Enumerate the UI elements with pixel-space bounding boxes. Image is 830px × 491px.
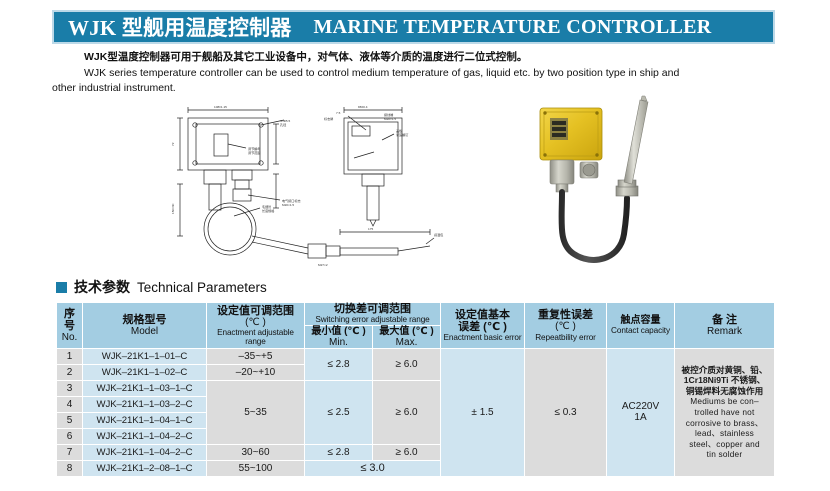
cell-no: 5 — [57, 412, 83, 428]
cell-no: 3 — [57, 380, 83, 396]
header-contact-cn: 触点容量 — [607, 315, 674, 326]
header-cell-basic-error: 设定值基本 误差 (℃ ) Enactment basic error — [441, 303, 525, 349]
header-min-en: Min. — [305, 337, 372, 348]
cell-set-range: 5~35 — [207, 380, 305, 444]
remark-en-3: corrosive to brass、 — [686, 418, 764, 428]
header-switch-cn: 切换差可调范围 — [305, 303, 440, 315]
cell-model: WJK–21K1–1–03–1–C — [83, 380, 207, 396]
cell-switch-min: ≤ 2.8 — [305, 444, 373, 460]
cell-no: 2 — [57, 364, 83, 380]
cell-model: WJK–21K1–2–08–1–C — [83, 460, 207, 476]
technical-parameters-table: 序 号 No. 规格型号 Model 设定值可调范围 (℃ ) Enactmen… — [56, 302, 775, 477]
intro-line-chinese: WJK型温度控制器可用于舰船及其它工业设备中，对气体、液体等介质的温度进行二位式… — [52, 50, 812, 66]
cell-model: WJK–21K1–1–04–1–C — [83, 412, 207, 428]
cell-no: 8 — [57, 460, 83, 476]
svg-text:孔径: 孔径 — [280, 122, 286, 127]
header-switch-en: Switching error adjustable range — [305, 315, 440, 324]
remark-en-5: steel、copper and — [689, 439, 760, 449]
cell-switch-min: ≤ 2.5 — [305, 380, 373, 444]
remark-en-2: trolled have not — [695, 407, 755, 417]
svg-text:标志牌: 标志牌 — [324, 116, 333, 121]
contact-capacity-voltage: AC220V — [622, 401, 659, 412]
media-row: 108±1.15 72 150±30 4–Φ5.5 孔径 调节螺母 调节范围 电… — [0, 96, 830, 276]
cell-set-range: –20~+10 — [207, 364, 305, 380]
header-max-cn: 最大值 (℃ ) — [373, 326, 440, 337]
cell-switch-max: ≥ 6.0 — [373, 444, 441, 460]
svg-text:感温包: 感温包 — [434, 232, 443, 237]
cell-set-range: –35~+5 — [207, 348, 305, 364]
cell-no: 4 — [57, 396, 83, 412]
svg-text:175: 175 — [368, 227, 373, 231]
cell-model: WJK–21K1–1–02–C — [83, 364, 207, 380]
page-title-english: MARINE TEMPERATURE CONTROLLER — [313, 16, 711, 39]
header-no-cn: 序 号 — [57, 308, 82, 333]
remark-en-4: lead、stainless — [695, 428, 754, 438]
header-cell-set-range: 设定值可调范围 (℃ ) Enactment adjustable range — [207, 303, 305, 349]
cell-remark: 被控介质对黄铜、铅、 1Cr18Ni9Ti 不锈钢、 铜锡焊料无腐蚀作用 Med… — [675, 348, 775, 476]
header-set-range-unit: (℃ ) — [207, 317, 304, 328]
header-cell-max: 最大值 (℃ ) Max. — [373, 325, 441, 348]
section-heading-technical-parameters: 技术参数 Technical Parameters — [56, 277, 267, 297]
table-header-row: 序 号 No. 规格型号 Model 设定值可调范围 (℃ ) Enactmen… — [57, 303, 775, 326]
cell-set-range: 55~100 — [207, 460, 305, 476]
svg-text:M20×1.5: M20×1.5 — [282, 203, 294, 207]
cell-model: WJK–21K1–1–01–C — [83, 348, 207, 364]
svg-text:150±30: 150±30 — [171, 203, 175, 214]
page-title-chinese: WJK 型舰用温度控制器 — [68, 12, 291, 42]
dimensional-outline-drawing: 108±1.15 72 150±30 4–Φ5.5 孔径 调节螺母 调节范围 电… — [168, 96, 468, 276]
intro-line-english-1: WJK series temperature controller can be… — [52, 66, 812, 82]
remark-cn-3: 铜锡焊料无腐蚀作用 — [686, 386, 763, 396]
header-no-en: No. — [57, 332, 82, 343]
svg-text:88±0.4: 88±0.4 — [358, 105, 368, 109]
cell-set-range: 30~60 — [207, 444, 305, 460]
cell-model: WJK–21K1–1–04–2–C — [83, 428, 207, 444]
cell-switch-max: ≥ 6.0 — [373, 348, 441, 380]
product-photo-temperature-controller — [528, 94, 733, 286]
svg-text:M27×2: M27×2 — [318, 263, 328, 267]
header-repeat-en: Repeatbility error — [525, 333, 606, 342]
page-title-bar: WJK 型舰用温度控制器 MARINE TEMPERATURE CONTROLL… — [52, 10, 775, 44]
header-cell-min: 最小值 (℃ ) Min. — [305, 325, 373, 348]
remark-cn-1: 被控介质对黄铜、铅、 — [682, 365, 768, 375]
remark-en-1: Mediums be con– — [690, 396, 759, 406]
cell-basic-error: ± 1.5 — [441, 348, 525, 476]
header-basic-error-cn-2: 误差 (℃ ) — [441, 321, 524, 333]
contact-capacity-current: 1A — [634, 412, 646, 423]
svg-text:紧固螺钉: 紧固螺钉 — [396, 132, 408, 137]
header-set-range-cn: 设定值可调范围 — [207, 305, 304, 317]
header-cell-switching-error: 切换差可调范围 Switching error adjustable range — [305, 303, 441, 326]
svg-text:108±1.15: 108±1.15 — [214, 105, 227, 109]
header-remark-en: Remark — [675, 326, 774, 337]
cell-no: 7 — [57, 444, 83, 460]
header-basic-error-cn-1: 设定值基本 — [441, 309, 524, 321]
section-title-english: Technical Parameters — [137, 280, 267, 295]
header-remark-cn: 备 注 — [675, 314, 774, 326]
header-cell-contact-capacity: 触点容量 Contact capacity — [607, 303, 675, 349]
header-min-cn: 最小值 (℃ ) — [305, 326, 372, 337]
header-basic-error-en: Enactment basic error — [441, 333, 524, 342]
header-cell-no: 序 号 No. — [57, 303, 83, 349]
header-model-en: Model — [83, 326, 206, 337]
svg-text:72: 72 — [171, 142, 175, 146]
section-bullet-square-icon — [56, 282, 67, 293]
cell-switch-merged: ≤ 3.0 — [305, 460, 441, 476]
svg-text:长度规格: 长度规格 — [262, 208, 275, 213]
remark-en-6: tin solder — [707, 449, 743, 459]
table-row: 1 WJK–21K1–1–01–C –35~+5 ≤ 2.8 ≥ 6.0 ± 1… — [57, 348, 775, 364]
header-contact-en: Contact capacity — [607, 326, 674, 335]
cell-contact-capacity: AC220V 1A — [607, 348, 675, 476]
cell-model: WJK–21K1–1–04–2–C — [83, 444, 207, 460]
header-repeat-cn: 重复性误差 — [525, 309, 606, 321]
cell-switch-min: ≤ 2.8 — [305, 348, 373, 380]
cell-no: 1 — [57, 348, 83, 364]
header-repeat-unit: (℃ ) — [525, 321, 606, 332]
header-set-range-en: Enactment adjustable range — [207, 328, 304, 346]
header-max-en: Max. — [373, 337, 440, 348]
svg-text:调节范围: 调节范围 — [248, 150, 260, 155]
svg-text:M20×1.5: M20×1.5 — [384, 117, 396, 121]
cell-no: 6 — [57, 428, 83, 444]
svg-text:7.5: 7.5 — [336, 111, 341, 115]
header-model-cn: 规格型号 — [83, 314, 206, 326]
cell-repeatability: ≤ 0.3 — [525, 348, 607, 476]
cell-switch-max: ≥ 6.0 — [373, 380, 441, 444]
header-cell-repeatability: 重复性误差 (℃ ) Repeatbility error — [525, 303, 607, 349]
remark-cn-2: 1Cr18Ni9Ti 不锈钢、 — [684, 375, 766, 385]
section-title-chinese: 技术参数 — [74, 277, 130, 297]
header-cell-model: 规格型号 Model — [83, 303, 207, 349]
header-cell-remark: 备 注 Remark — [675, 303, 775, 349]
cell-model: WJK–21K1–1–03–2–C — [83, 396, 207, 412]
intro-paragraph: WJK型温度控制器可用于舰船及其它工业设备中，对气体、液体等介质的温度进行二位式… — [52, 50, 812, 97]
